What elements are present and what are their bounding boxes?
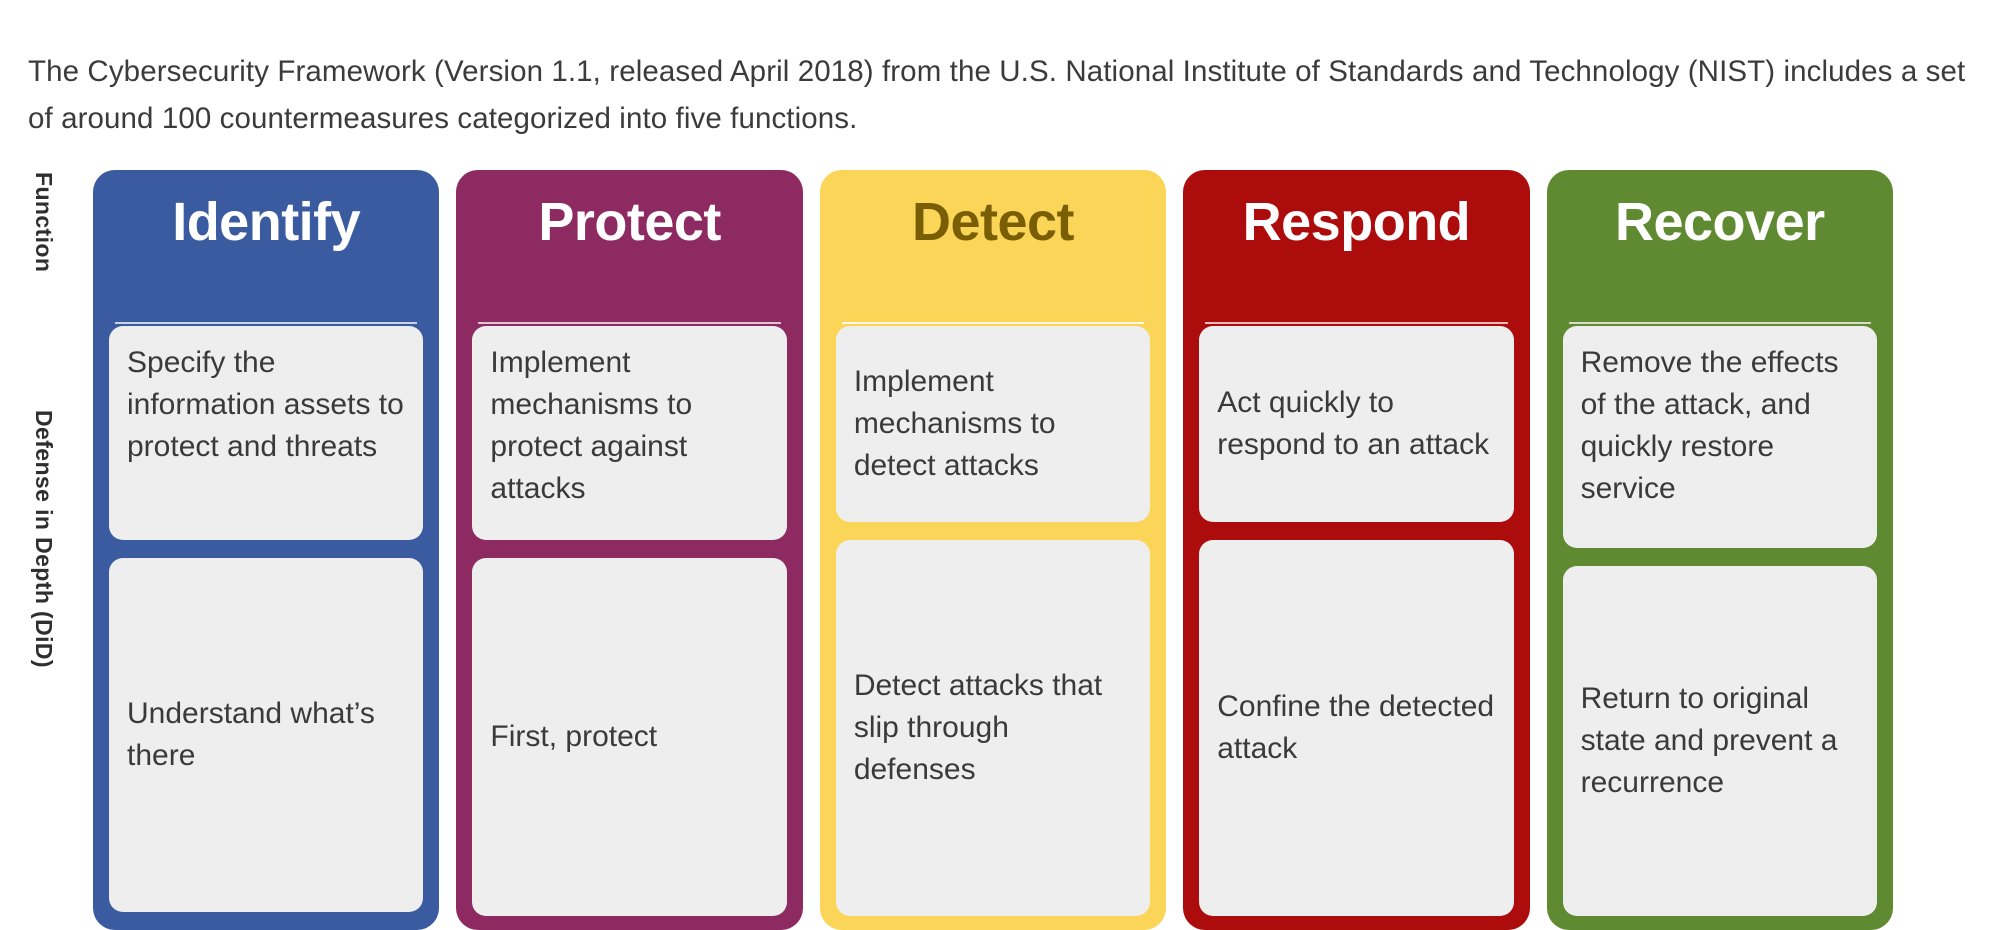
card-recover-1[interactable]: Remove the effects of the attack, and qu…: [1563, 326, 1877, 548]
column-cards-detect: Implement mechanisms to detect attacks D…: [836, 326, 1150, 930]
card-respond-1[interactable]: Act quickly to respond to an attack: [1199, 326, 1513, 522]
card-protect-2[interactable]: First, protect: [472, 558, 786, 916]
column-divider-identify: [115, 322, 417, 324]
card-protect-1[interactable]: Implement mechanisms to protect against …: [472, 326, 786, 540]
column-cards-identify: Specify the information assets to protec…: [109, 326, 423, 930]
column-cards-protect: Implement mechanisms to protect against …: [472, 326, 786, 930]
column-title-respond: Respond: [1243, 194, 1471, 251]
column-header-identify: Identify: [109, 184, 423, 326]
card-identify-2[interactable]: Understand what’s there: [109, 558, 423, 912]
column-respond[interactable]: Respond Act quickly to respond to an att…: [1183, 170, 1529, 930]
intro-paragraph: The Cybersecurity Framework (Version 1.1…: [28, 48, 1978, 142]
column-header-protect: Protect: [472, 184, 786, 326]
column-cards-respond: Act quickly to respond to an attack Conf…: [1199, 326, 1513, 930]
column-title-identify: Identify: [172, 194, 360, 251]
column-cards-recover: Remove the effects of the attack, and qu…: [1563, 326, 1877, 930]
card-detect-1[interactable]: Implement mechanisms to detect attacks: [836, 326, 1150, 522]
card-recover-2[interactable]: Return to original state and prevent a r…: [1563, 566, 1877, 916]
axis-label-function: Function: [30, 172, 57, 272]
column-divider-recover: [1569, 322, 1871, 324]
column-identify[interactable]: Identify Specify the information assets …: [93, 170, 439, 930]
column-recover[interactable]: Recover Remove the effects of the attack…: [1547, 170, 1893, 930]
column-protect[interactable]: Protect Implement mechanisms to protect …: [456, 170, 802, 930]
axis-label-defense-in-depth: Defense in Depth (DiD): [30, 410, 57, 668]
column-title-protect: Protect: [538, 194, 721, 251]
column-header-detect: Detect: [836, 184, 1150, 326]
column-divider-protect: [478, 322, 780, 324]
column-title-detect: Detect: [912, 194, 1074, 251]
column-title-recover: Recover: [1615, 194, 1825, 251]
column-divider-detect: [842, 322, 1144, 324]
card-identify-1[interactable]: Specify the information assets to protec…: [109, 326, 423, 540]
column-header-recover: Recover: [1563, 184, 1877, 326]
column-header-respond: Respond: [1199, 184, 1513, 326]
slide-root: The Cybersecurity Framework (Version 1.1…: [0, 0, 2000, 925]
card-detect-2[interactable]: Detect attacks that slip through defense…: [836, 540, 1150, 916]
column-divider-respond: [1205, 322, 1507, 324]
column-detect[interactable]: Detect Implement mechanisms to detect at…: [820, 170, 1166, 930]
framework-columns: Identify Specify the information assets …: [93, 170, 1893, 930]
card-respond-2[interactable]: Confine the detected attack: [1199, 540, 1513, 916]
